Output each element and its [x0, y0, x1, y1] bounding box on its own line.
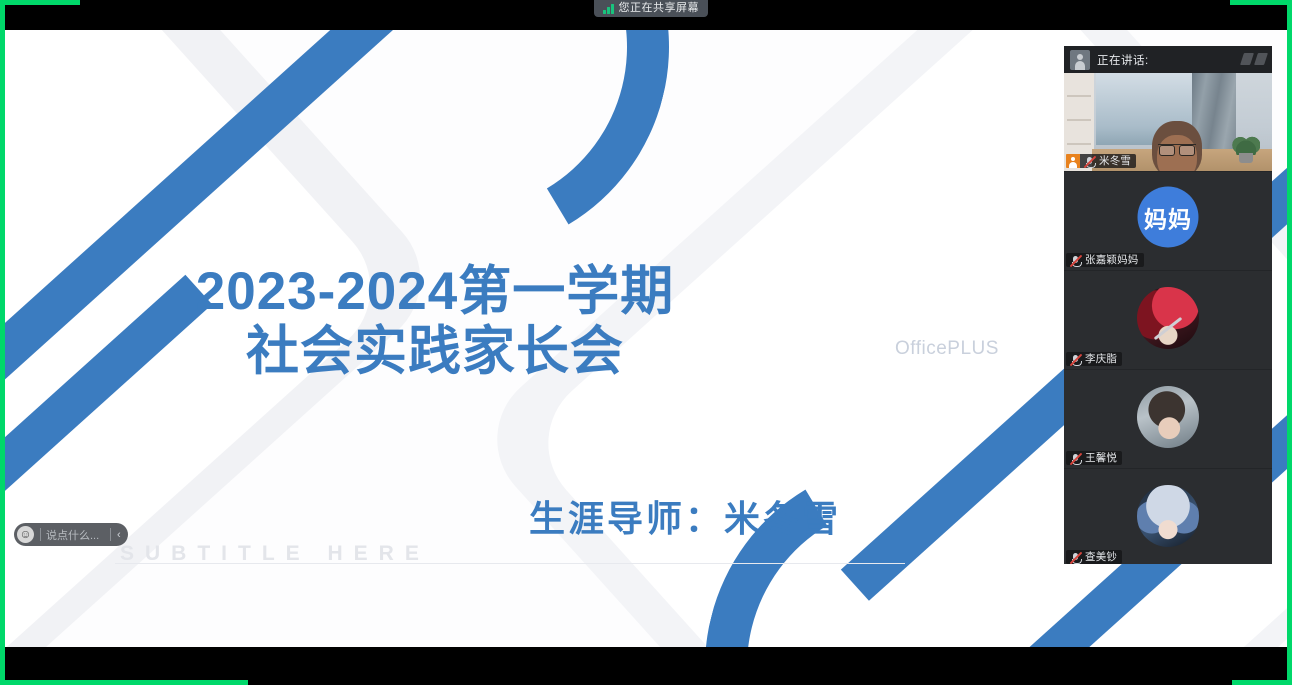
- slide-presenter: 生涯导师：米冬雪: [425, 490, 945, 542]
- participant-avatar: [1137, 386, 1199, 448]
- participant-avatar: [1137, 485, 1199, 547]
- active-speaker-header[interactable]: 正在讲话:: [1064, 46, 1272, 73]
- user-avatar-icon: [1070, 50, 1090, 70]
- participant-name: 王馨悦: [1085, 451, 1117, 465]
- slide-title: 2023-2024第一学期 社会实践家长会: [125, 262, 745, 383]
- mic-muted-icon: [1069, 452, 1082, 465]
- screen-share-border-right: [1287, 0, 1292, 685]
- participant-name: 张嘉颖妈妈: [1085, 253, 1139, 267]
- active-speaker-label: 正在讲话:: [1097, 52, 1149, 68]
- mic-muted-icon: [1083, 155, 1096, 168]
- screen-share-root: 您正在共享屏幕 2023-2024第一学期 社会实践家长会 生涯导师：米冬雪 S…: [0, 0, 1292, 685]
- participant-name-chip: 李庆脂: [1066, 352, 1122, 366]
- screen-sharing-status-pill[interactable]: 您正在共享屏幕: [594, 0, 708, 17]
- participant-tile[interactable]: 妈妈 张嘉颖妈妈: [1064, 172, 1272, 271]
- chat-divider: [40, 528, 41, 541]
- signal-bars-icon: [603, 4, 614, 14]
- participant-avatar: 妈妈: [1138, 187, 1199, 248]
- chevron-left-icon[interactable]: ‹: [117, 529, 126, 541]
- participant-name-chip: 米冬雪: [1066, 154, 1136, 168]
- mic-muted-icon: [1069, 353, 1082, 366]
- top-black-bar: 您正在共享屏幕: [0, 0, 1292, 30]
- host-badge-icon: [1066, 154, 1080, 168]
- participants-panel[interactable]: 正在讲话:: [1064, 46, 1272, 564]
- participant-name-chip: 王馨悦: [1066, 451, 1122, 465]
- participant-tile[interactable]: 查美钞: [1064, 469, 1272, 564]
- participant-tile[interactable]: 米冬雪: [1064, 73, 1272, 172]
- window-controls-icon[interactable]: [1242, 53, 1266, 65]
- participant-tile[interactable]: 李庆脂: [1064, 271, 1272, 370]
- mic-muted-icon: [1069, 551, 1082, 564]
- smiley-icon[interactable]: ☺: [17, 526, 34, 543]
- slide-subtitle: SUBTITLE HERE: [120, 542, 430, 566]
- participant-name: 李庆脂: [1085, 352, 1117, 366]
- participant-avatar: [1137, 287, 1199, 349]
- participant-name: 查美钞: [1085, 550, 1117, 564]
- chat-divider-right: [110, 528, 111, 541]
- participant-name: 米冬雪: [1099, 154, 1131, 168]
- officeplus-watermark: OfficePLUS: [895, 338, 999, 360]
- mic-muted-icon: [1069, 254, 1082, 267]
- chat-input-bar[interactable]: ☺ 说点什么... ‹: [14, 523, 128, 546]
- bottom-black-bar: [0, 647, 1292, 685]
- participant-name-chip: 查美钞: [1066, 550, 1122, 564]
- sharing-status-label: 您正在共享屏幕: [619, 3, 700, 14]
- participant-name-chip: 张嘉颖妈妈: [1066, 253, 1144, 267]
- chat-input[interactable]: 说点什么...: [46, 527, 108, 543]
- participant-tile[interactable]: 王馨悦: [1064, 370, 1272, 469]
